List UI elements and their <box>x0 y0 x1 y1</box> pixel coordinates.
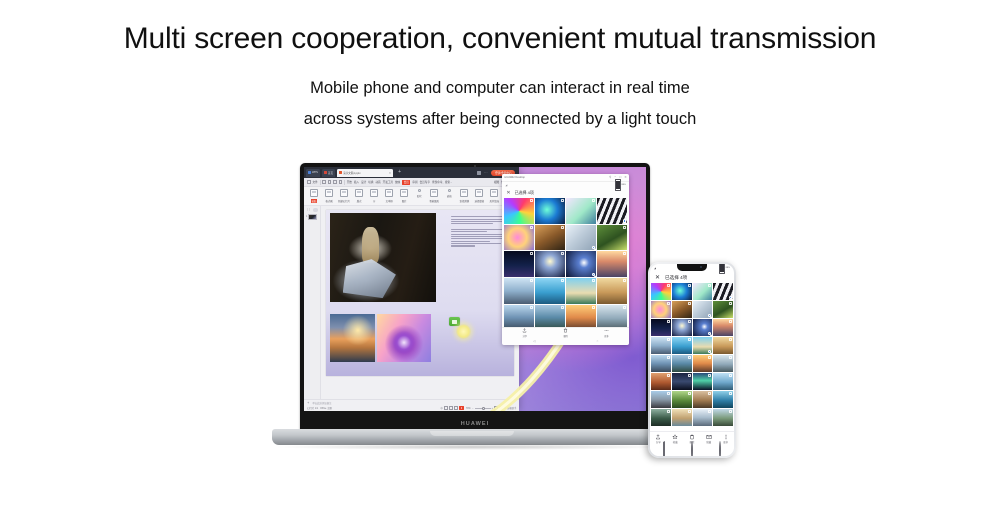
find-replace-icon <box>460 189 468 197</box>
ai-assistant-button[interactable]: AI 智能助手 <box>499 406 516 410</box>
ribbon-item-section[interactable]: 节 <box>367 189 381 203</box>
photo-tile[interactable] <box>693 391 713 408</box>
photo-tile[interactable] <box>672 337 692 354</box>
presentation-file-icon <box>339 171 342 174</box>
more-button[interactable]: 更多 <box>604 328 609 338</box>
slide-canvas-pane[interactable] <box>321 206 519 399</box>
forest-ice-photo[interactable] <box>330 213 436 302</box>
star-icon <box>672 434 678 440</box>
unselected-checkbox-icon[interactable] <box>530 306 533 309</box>
ribbon-item-new-slide[interactable]: 新建幻灯片 <box>337 189 351 203</box>
favorite-button[interactable]: 收藏 <box>672 434 678 445</box>
slide-count-label: 幻灯片 1/1 <box>307 406 318 410</box>
photo-tile[interactable] <box>504 198 534 224</box>
recents-icon[interactable] <box>719 442 721 456</box>
unselected-checkbox-icon[interactable] <box>623 306 626 309</box>
unselected-checkbox-icon[interactable] <box>729 356 732 359</box>
menu-item-4[interactable]: 切换 <box>368 180 373 184</box>
ribbon-label: 表格 <box>447 194 452 198</box>
unselected-checkbox-icon[interactable] <box>667 284 670 287</box>
unselected-checkbox-icon[interactable] <box>667 338 670 341</box>
laptop-screen: WPS 首页 演示文稿1.pptx ✕ + <box>304 167 646 411</box>
print-icon[interactable] <box>328 180 332 184</box>
ribbon-label: 图片 <box>402 199 407 203</box>
unselected-checkbox-icon[interactable] <box>688 410 691 413</box>
unselected-checkbox-icon[interactable] <box>708 410 711 413</box>
unselected-checkbox-icon[interactable] <box>592 306 595 309</box>
unselected-checkbox-icon[interactable] <box>561 252 564 255</box>
photo-tile[interactable] <box>693 319 713 336</box>
home-circle-icon[interactable]: ○ <box>596 340 598 343</box>
home-icon <box>324 171 327 174</box>
menu-item-7[interactable]: 审阅 <box>412 180 417 184</box>
share-icon <box>655 434 661 440</box>
photo-tile[interactable] <box>672 391 692 408</box>
member-badge[interactable]: 会员 <box>402 180 410 185</box>
ribbon-item-format-brush[interactable]: 格式刷 <box>322 189 336 203</box>
ribbon-label: 智能图形 <box>429 199 439 203</box>
ribbon-label: 选择窗格 <box>475 199 485 203</box>
selection-count-label: 已选择 4项 <box>665 275 687 281</box>
photo-tile[interactable] <box>566 251 596 277</box>
close-icon[interactable]: ✕ <box>389 171 392 175</box>
wps-ribbon: 粘贴 格式刷 新建幻灯片 <box>304 187 519 206</box>
photo-tile[interactable] <box>672 409 692 426</box>
photo-tile[interactable] <box>535 278 565 304</box>
paste-icon <box>310 189 318 197</box>
picture-icon <box>400 189 408 197</box>
unselected-checkbox-icon[interactable] <box>667 356 670 359</box>
photo-tile[interactable] <box>651 283 671 300</box>
unselected-checkbox-icon[interactable] <box>708 284 711 287</box>
ribbon-label: 文本框 <box>386 199 393 203</box>
unselected-checkbox-icon[interactable] <box>688 320 691 323</box>
share-button[interactable]: 分享 <box>655 434 661 445</box>
zoom-out-button[interactable]: − <box>472 407 473 410</box>
menu-item-0[interactable]: 文件 <box>313 180 318 184</box>
wps-logo-icon <box>308 171 311 174</box>
shape-fill-icon <box>490 189 498 197</box>
photo-tile[interactable] <box>597 225 627 251</box>
unselected-checkbox-icon[interactable] <box>530 279 533 282</box>
unselected-checkbox-icon[interactable] <box>667 374 670 377</box>
menu-item-2[interactable]: 插入 <box>354 180 359 184</box>
more-options-icon[interactable]: ⋯ <box>484 171 488 175</box>
add-note-button[interactable]: + <box>307 401 309 405</box>
slide-thumbnail-1[interactable]: 1 <box>306 214 318 220</box>
unselected-checkbox-icon[interactable] <box>623 226 626 229</box>
hide-icon <box>706 434 712 440</box>
selection-pane-icon <box>475 189 483 197</box>
menu-item-1[interactable]: 开始 <box>347 180 352 184</box>
signal-icon: ◢ <box>654 267 656 270</box>
unselected-checkbox-icon[interactable] <box>592 279 595 282</box>
ai-label: AI 智能助手 <box>504 406 517 410</box>
photo-tile[interactable] <box>597 305 627 327</box>
unselected-checkbox-icon[interactable] <box>561 306 564 309</box>
purple-flower-photo[interactable] <box>377 314 431 361</box>
new-tab-button[interactable]: + <box>395 170 404 175</box>
unselected-checkbox-icon[interactable] <box>708 392 711 395</box>
photo-tile[interactable] <box>713 319 733 336</box>
close-icon[interactable]: ✕ <box>655 275 660 281</box>
page-title: Multi screen cooperation, convenient mut… <box>0 22 1000 56</box>
redo-icon[interactable] <box>339 180 343 184</box>
selection-count-label: 已选择 4项 <box>515 190 534 196</box>
battery-percent-label: 88% <box>622 184 626 186</box>
language-icon[interactable]: 中 <box>440 406 442 410</box>
unselected-checkbox-icon[interactable] <box>729 320 732 323</box>
home-circle-icon[interactable] <box>691 442 693 456</box>
desktop-wallpaper: WPS 首页 演示文稿1.pptx ✕ + <box>304 167 646 411</box>
action-label: 收藏 <box>673 440 678 444</box>
wps-titlebar: WPS 首页 演示文稿1.pptx ✕ + <box>304 167 519 178</box>
menu-search-field[interactable]: 查找命令、搜索... <box>432 180 452 184</box>
ribbon-item-shape-fill[interactable]: 形状填充 <box>487 189 501 203</box>
battery-percent-label: 88% <box>726 267 730 269</box>
ribbon-item-shape[interactable]: 形状 <box>412 189 426 198</box>
photo-tile[interactable] <box>672 301 692 318</box>
delete-button[interactable]: 删除 <box>563 328 568 338</box>
sorter-view-icon[interactable] <box>449 406 453 410</box>
zoom-in-button[interactable]: + <box>492 407 493 410</box>
photo-tile[interactable] <box>713 301 733 318</box>
more-icon <box>723 434 729 440</box>
normal-view-icon[interactable] <box>444 406 448 410</box>
sunset-lake-photo[interactable] <box>330 314 375 361</box>
outline-toggle[interactable] <box>313 208 318 212</box>
photo-tile[interactable] <box>535 251 565 277</box>
unselected-checkbox-icon[interactable] <box>729 410 732 413</box>
unselected-checkbox-icon[interactable] <box>729 392 732 395</box>
tab-wps-home[interactable]: WPS <box>306 169 320 177</box>
mirror-selection-header: ✕ 已选择 4项 <box>502 188 629 198</box>
divider <box>344 180 345 185</box>
smartart-icon <box>430 189 438 197</box>
wps-workspace: ⋮⋮ 1 <box>304 206 519 399</box>
laptop-brand-label: HUAWEI <box>300 421 650 427</box>
mirror-photo-grid[interactable] <box>502 198 629 327</box>
photo-tile[interactable] <box>672 355 692 372</box>
more-button[interactable]: 更多 <box>723 434 729 445</box>
unselected-checkbox-icon[interactable] <box>592 199 595 202</box>
ribbon-item-picture[interactable]: 图片 <box>397 189 411 203</box>
photo-tile[interactable] <box>651 301 671 318</box>
photo-tile[interactable] <box>566 278 596 304</box>
photo-tile[interactable] <box>693 301 713 318</box>
photo-tile[interactable] <box>535 225 565 251</box>
share-icon <box>522 328 527 333</box>
selected-check-icon[interactable] <box>592 246 595 249</box>
lightbulb-icon <box>499 406 503 410</box>
trash-icon <box>689 434 695 440</box>
save-icon[interactable] <box>322 180 326 184</box>
unselected-checkbox-icon[interactable] <box>729 374 732 377</box>
photo-tile[interactable] <box>693 283 713 300</box>
phone-device: ◢ 88% ✕ 已选择 4项 分享 <box>648 262 736 458</box>
laptop-base <box>272 429 672 445</box>
unselected-checkbox-icon[interactable] <box>667 410 670 413</box>
ribbon-item-table[interactable]: 表格 <box>442 189 456 198</box>
photo-tile[interactable] <box>651 355 671 372</box>
selected-check-icon[interactable] <box>708 314 711 317</box>
unselected-checkbox-icon[interactable] <box>688 302 691 305</box>
selected-check-icon[interactable] <box>623 219 626 222</box>
unselected-checkbox-icon[interactable] <box>667 320 670 323</box>
touch-glow-icon <box>456 324 471 339</box>
menu-item-3[interactable]: 设计 <box>361 180 366 184</box>
photo-tile[interactable] <box>651 409 671 426</box>
tab-presentation-file[interactable]: 演示文稿1.pptx ✕ <box>337 169 393 177</box>
battery-icon <box>615 179 621 191</box>
photo-tile[interactable] <box>504 225 534 251</box>
unselected-checkbox-icon[interactable] <box>688 356 691 359</box>
promo-banner: Multi screen cooperation, convenient mut… <box>0 0 1000 505</box>
menu-item-6[interactable]: 放映 <box>395 180 400 184</box>
unselected-checkbox-icon[interactable] <box>688 392 691 395</box>
unselected-checkbox-icon[interactable] <box>708 374 711 377</box>
selected-check-icon[interactable] <box>729 296 732 299</box>
ribbon-item-selection-pane[interactable]: 选择窗格 <box>472 189 486 203</box>
photo-tile[interactable] <box>672 319 692 336</box>
unselected-checkbox-icon[interactable] <box>561 226 564 229</box>
wps-status-bar: + 单击此处添加备注 幻灯片 1/1 Office 主题 中 <box>304 399 519 411</box>
ribbon-item-paste[interactable]: 粘贴 <box>307 189 321 203</box>
action-label: 隐藏 <box>706 440 711 444</box>
laptop-device: HUAWEI WPS 首页 <box>272 163 672 451</box>
theme-label: Office 主题 <box>320 406 332 410</box>
pin-icon[interactable]: ⚲ <box>609 176 611 179</box>
textbox-icon <box>385 189 393 197</box>
subtitle-line-1: Mobile phone and computer can interact i… <box>0 79 1000 98</box>
photo-tile[interactable] <box>693 337 713 354</box>
photo-tile[interactable] <box>597 278 627 304</box>
photo-tile[interactable] <box>535 198 565 224</box>
menu-item-5[interactable]: 动画 <box>375 180 380 184</box>
photo-tile[interactable] <box>713 337 733 354</box>
photo-tile[interactable] <box>597 198 627 224</box>
photo-tile[interactable] <box>713 283 733 300</box>
ribbon-label: 新建幻灯片 <box>338 199 350 203</box>
photo-tile[interactable] <box>713 355 733 372</box>
photo-tile[interactable] <box>672 373 692 390</box>
mirror-nav-bar: ◁ ○ <box>502 338 629 345</box>
slide-canvas[interactable] <box>326 210 514 376</box>
ribbon-label: 粘贴 <box>311 199 318 203</box>
trash-icon <box>563 328 568 333</box>
zoom-level-label: 79% <box>466 407 471 410</box>
tab-start-page[interactable]: 首页 <box>322 169 335 177</box>
menu-grid-icon[interactable] <box>307 180 311 184</box>
selected-check-icon[interactable] <box>708 332 711 335</box>
laptop-shadow <box>278 444 666 450</box>
photo-tile[interactable] <box>713 373 733 390</box>
photo-tile[interactable] <box>566 225 596 251</box>
photo-tile[interactable] <box>566 305 596 327</box>
tab-label: WPS <box>312 171 318 174</box>
photo-tile[interactable] <box>693 409 713 426</box>
unselected-checkbox-icon[interactable] <box>708 356 711 359</box>
photo-tile[interactable] <box>566 198 596 224</box>
back-triangle-icon[interactable] <box>663 442 665 456</box>
tab-label: 首页 <box>328 171 333 175</box>
unselected-checkbox-icon[interactable] <box>623 252 626 255</box>
ribbon-label: 版式 <box>357 199 362 203</box>
layout-icon <box>355 189 363 197</box>
add-note-label: 单击此处添加备注 <box>312 401 331 405</box>
phone-nav-bar <box>650 446 734 456</box>
ribbon-item-find-replace[interactable]: 查找替换 <box>457 189 471 203</box>
unselected-checkbox-icon[interactable] <box>688 338 691 341</box>
fit-to-window-icon[interactable] <box>494 406 498 410</box>
photo-tile[interactable] <box>504 251 534 277</box>
wps-menubar: 文件 开始 插入 设计 切换 动画 开发工具 <box>304 178 519 187</box>
unselected-checkbox-icon[interactable] <box>667 392 670 395</box>
divider <box>320 180 321 185</box>
back-icon[interactable]: ◁ <box>533 340 535 343</box>
section-icon <box>370 189 378 197</box>
slide-thumbnail-panel[interactable]: ⋮⋮ 1 <box>304 206 321 399</box>
photo-tile[interactable] <box>651 373 671 390</box>
menu-item-10[interactable]: 开发工具 <box>383 180 393 184</box>
zoom-slider[interactable]: − + <box>472 407 493 410</box>
subtitle-line-2: across systems after being connected by … <box>0 110 1000 129</box>
panel-toggle-icon[interactable]: ⋮⋮ <box>306 208 311 211</box>
ribbon-label: 节 <box>373 199 375 203</box>
tab-label: 演示文稿1.pptx <box>343 171 360 175</box>
new-slide-icon <box>340 189 348 197</box>
table-icon <box>448 189 451 192</box>
photo-tile[interactable] <box>693 373 713 390</box>
photo-tile[interactable] <box>651 319 671 336</box>
thumbnail-panel-header: ⋮⋮ <box>306 208 318 212</box>
undo-icon[interactable] <box>333 180 337 184</box>
ribbon-label: 格式刷 <box>325 199 332 203</box>
wps-office-window: WPS 首页 演示文稿1.pptx ✕ + <box>304 167 519 411</box>
ribbon-item-layout[interactable]: 版式 <box>352 189 366 203</box>
battery-icon <box>719 264 725 274</box>
share-button[interactable]: 分享 <box>522 328 527 338</box>
unselected-checkbox-icon[interactable] <box>530 226 533 229</box>
phone-screen: ◢ 88% ✕ 已选择 4项 分享 <box>650 264 734 456</box>
unselected-checkbox-icon[interactable] <box>667 302 670 305</box>
photo-tile[interactable] <box>651 337 671 354</box>
action-label: 更多 <box>723 440 728 444</box>
format-brush-icon <box>325 189 333 197</box>
grid-view-icon[interactable] <box>477 171 481 175</box>
menu-item-12[interactable]: 会员专享 <box>420 180 430 184</box>
reading-view-icon[interactable] <box>454 406 458 410</box>
photo-tile[interactable] <box>535 305 565 327</box>
photo-tile[interactable] <box>672 283 692 300</box>
unselected-checkbox-icon[interactable] <box>729 338 732 341</box>
phone-mirror-window[interactable]: HUAWEI Desktop ⚲ − □ ✕ ◢ <box>502 174 629 345</box>
hide-button[interactable]: 隐藏 <box>706 434 712 445</box>
phone-notch <box>677 264 707 271</box>
ribbon-label: 形状 <box>417 194 422 198</box>
photo-tile[interactable] <box>504 278 534 304</box>
phone-photo-grid[interactable] <box>650 283 734 431</box>
slide-preview <box>308 214 317 220</box>
zoom-slider-handle[interactable] <box>482 407 485 410</box>
ribbon-item-textbox[interactable]: 文本框 <box>382 189 396 203</box>
unselected-checkbox-icon[interactable] <box>561 199 564 202</box>
phone-status-bar: ◢ 88% <box>650 264 734 272</box>
photo-tile[interactable] <box>713 391 733 408</box>
mirror-action-bar: 分享 删除 <box>502 327 629 338</box>
menu-item-8[interactable]: 视图 <box>494 180 499 184</box>
ribbon-item-smartart[interactable]: 智能图形 <box>427 189 441 203</box>
shape-icon <box>418 189 421 192</box>
mirror-titlebar: HUAWEI Desktop ⚲ − □ ✕ <box>502 174 629 182</box>
signal-icon: ◢ <box>505 184 507 187</box>
laptop-lid: HUAWEI WPS 首页 <box>300 163 650 431</box>
unselected-checkbox-icon[interactable] <box>623 279 626 282</box>
ribbon-label: 查找替换 <box>460 199 470 203</box>
ribbon-label: 形状填充 <box>490 199 500 203</box>
close-icon[interactable]: ✕ <box>506 191 510 196</box>
photo-tile[interactable] <box>693 355 713 372</box>
slide-number: 1 <box>306 215 307 218</box>
more-icon <box>604 328 609 333</box>
unselected-checkbox-icon[interactable] <box>688 284 691 287</box>
unselected-checkbox-icon[interactable] <box>530 199 533 202</box>
photo-tile[interactable] <box>597 251 627 277</box>
mirror-title-label: HUAWEI Desktop <box>504 176 525 179</box>
unselected-checkbox-icon[interactable] <box>688 374 691 377</box>
selected-check-icon[interactable] <box>708 350 711 353</box>
photo-tile[interactable] <box>504 305 534 327</box>
start-slideshow-button[interactable] <box>459 406 464 410</box>
selected-check-icon[interactable] <box>592 273 595 276</box>
unselected-checkbox-icon[interactable] <box>561 279 564 282</box>
photo-tile[interactable] <box>713 409 733 426</box>
action-label: 分享 <box>656 440 661 444</box>
unselected-checkbox-icon[interactable] <box>530 252 533 255</box>
photo-tile[interactable] <box>651 391 671 408</box>
unselected-checkbox-icon[interactable] <box>729 302 732 305</box>
